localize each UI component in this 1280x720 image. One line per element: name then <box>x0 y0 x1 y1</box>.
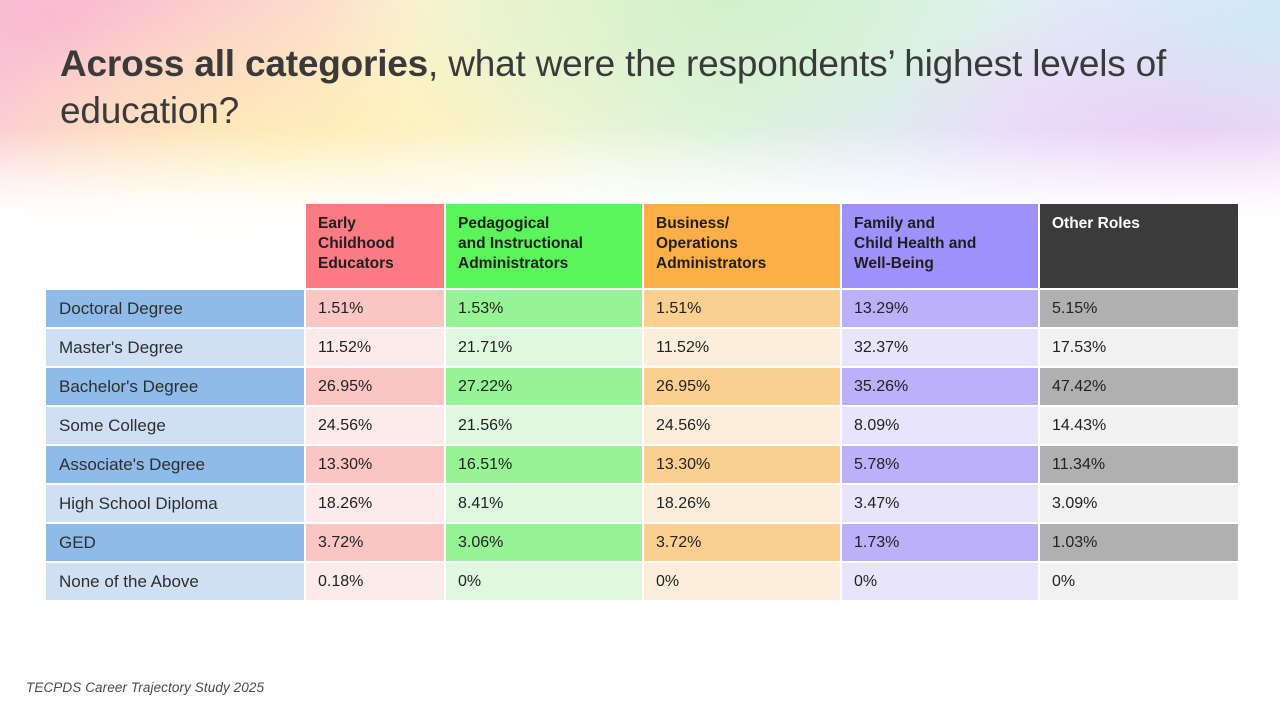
table-data-cell: 1.03% <box>1040 524 1238 561</box>
education-levels-table: EarlyChildhoodEducators Pedagogicaland I… <box>44 202 1240 602</box>
table-data-cell: 27.22% <box>446 368 642 405</box>
table-data-cell: 3.72% <box>644 524 840 561</box>
table-row: Doctoral Degree1.51%1.53%1.51%13.29%5.15… <box>46 290 1238 327</box>
table-data-cell: 11.34% <box>1040 446 1238 483</box>
table-row: High School Diploma18.26%8.41%18.26%3.47… <box>46 485 1238 522</box>
table-data-cell: 18.26% <box>644 485 840 522</box>
table-data-cell: 1.51% <box>644 290 840 327</box>
row-header-cell: Bachelor's Degree <box>46 368 304 405</box>
table-data-cell: 14.43% <box>1040 407 1238 444</box>
table-data-cell: 5.78% <box>842 446 1038 483</box>
table-data-cell: 13.30% <box>306 446 444 483</box>
table-data-cell: 0% <box>644 563 840 600</box>
table-data-cell: 16.51% <box>446 446 642 483</box>
row-header-cell: GED <box>46 524 304 561</box>
table-row: Associate's Degree13.30%16.51%13.30%5.78… <box>46 446 1238 483</box>
row-header-cell: Associate's Degree <box>46 446 304 483</box>
table-data-cell: 26.95% <box>644 368 840 405</box>
column-header-business-operations-administrators: Business/OperationsAdministrators <box>644 204 840 288</box>
table-data-cell: 1.73% <box>842 524 1038 561</box>
column-header-pedagogical-instructional-administrators: Pedagogicaland InstructionalAdministrato… <box>446 204 642 288</box>
table-row: Master's Degree11.52%21.71%11.52%32.37%1… <box>46 329 1238 366</box>
table-data-cell: 17.53% <box>1040 329 1238 366</box>
table-header: EarlyChildhoodEducators Pedagogicaland I… <box>46 204 1238 288</box>
table-data-cell: 13.29% <box>842 290 1038 327</box>
table-data-cell: 24.56% <box>644 407 840 444</box>
table-data-cell: 13.30% <box>644 446 840 483</box>
row-header-cell: Some College <box>46 407 304 444</box>
table-data-cell: 3.72% <box>306 524 444 561</box>
table-data-cell: 0% <box>1040 563 1238 600</box>
table-data-cell: 1.51% <box>306 290 444 327</box>
table-row: Some College24.56%21.56%24.56%8.09%14.43… <box>46 407 1238 444</box>
row-header-cell: High School Diploma <box>46 485 304 522</box>
table-data-cell: 11.52% <box>644 329 840 366</box>
slide-title: Across all categories, what were the res… <box>60 40 1180 134</box>
table-data-cell: 0% <box>446 563 642 600</box>
table-data-cell: 47.42% <box>1040 368 1238 405</box>
table-data-cell: 3.47% <box>842 485 1038 522</box>
table-data-cell: 18.26% <box>306 485 444 522</box>
table-data-cell: 11.52% <box>306 329 444 366</box>
table-data-cell: 35.26% <box>842 368 1038 405</box>
table-data-cell: 0% <box>842 563 1038 600</box>
column-header-early-childhood-educators: EarlyChildhoodEducators <box>306 204 444 288</box>
source-footnote: TECPDS Career Trajectory Study 2025 <box>26 680 264 695</box>
table-data-cell: 5.15% <box>1040 290 1238 327</box>
column-header-other-roles: Other Roles <box>1040 204 1238 288</box>
table-data-cell: 24.56% <box>306 407 444 444</box>
table-data-cell: 8.41% <box>446 485 642 522</box>
table-data-cell: 0.18% <box>306 563 444 600</box>
slide-canvas: Across all categories, what were the res… <box>0 0 1280 720</box>
column-header-family-child-health-wellbeing: Family andChild Health andWell-Being <box>842 204 1038 288</box>
row-header-cell: None of the Above <box>46 563 304 600</box>
table-data-cell: 3.09% <box>1040 485 1238 522</box>
table-data-cell: 21.56% <box>446 407 642 444</box>
table-row: None of the Above0.18%0%0%0%0% <box>46 563 1238 600</box>
table-data-cell: 1.53% <box>446 290 642 327</box>
table-data-cell: 3.06% <box>446 524 642 561</box>
table-data-cell: 8.09% <box>842 407 1038 444</box>
table-corner-cell <box>46 204 304 288</box>
table-header-row: EarlyChildhoodEducators Pedagogicaland I… <box>46 204 1238 288</box>
slide-title-emphasis: Across all categories <box>60 43 428 84</box>
table-data-cell: 26.95% <box>306 368 444 405</box>
table-row: Bachelor's Degree26.95%27.22%26.95%35.26… <box>46 368 1238 405</box>
education-levels-table-container: EarlyChildhoodEducators Pedagogicaland I… <box>44 202 1236 602</box>
row-header-cell: Doctoral Degree <box>46 290 304 327</box>
table-data-cell: 32.37% <box>842 329 1038 366</box>
row-header-cell: Master's Degree <box>46 329 304 366</box>
table-row: GED3.72%3.06%3.72%1.73%1.03% <box>46 524 1238 561</box>
table-body: Doctoral Degree1.51%1.53%1.51%13.29%5.15… <box>46 290 1238 600</box>
table-data-cell: 21.71% <box>446 329 642 366</box>
